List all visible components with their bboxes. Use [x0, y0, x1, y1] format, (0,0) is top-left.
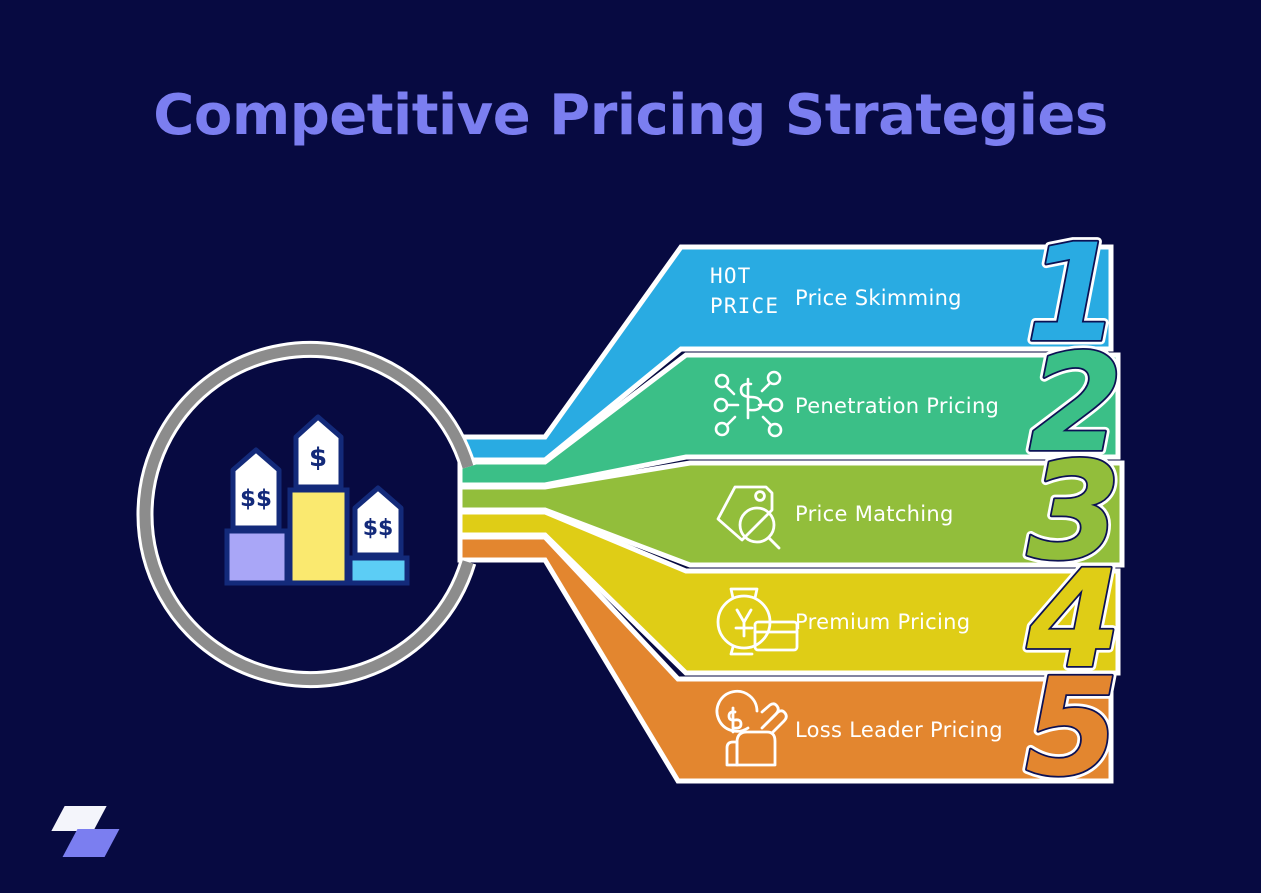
row-label-premium-pricing: Premium Pricing — [795, 610, 970, 634]
infographic-diagram: 1 1 2 2 3 3 4 4 5 5 — [0, 0, 1261, 893]
row-label-price-matching: Price Matching — [795, 502, 954, 526]
row-label-loss-leader-pricing: Loss Leader Pricing — [795, 718, 1003, 742]
price-tag-right-label: $$ — [363, 516, 394, 541]
bar-center — [290, 490, 347, 583]
hot-price-line-1: HOT — [710, 262, 790, 292]
logo-shape-bottom — [63, 829, 120, 857]
row-number-5: 5 5 — [1025, 649, 1119, 806]
brand-parallelogram-logo — [52, 806, 118, 858]
center-graphic: $$ $ $$ — [227, 417, 407, 583]
numeral-5: 5 — [1025, 649, 1119, 806]
bar-left — [227, 531, 287, 583]
row-label-price-skimming: Price Skimming — [795, 286, 962, 310]
infographic-canvas: Competitive Pricing Strategies — [0, 0, 1261, 893]
price-tag-center-label: $ — [309, 443, 327, 473]
bar-right — [350, 558, 407, 583]
hot-price-line-2: PRICE — [710, 292, 790, 322]
row-label-penetration-pricing: Penetration Pricing — [795, 394, 999, 418]
price-tag-left-label: $$ — [240, 486, 272, 512]
hot-price-icon: HOT PRICE — [710, 262, 790, 322]
logo-shape-top — [51, 806, 106, 831]
